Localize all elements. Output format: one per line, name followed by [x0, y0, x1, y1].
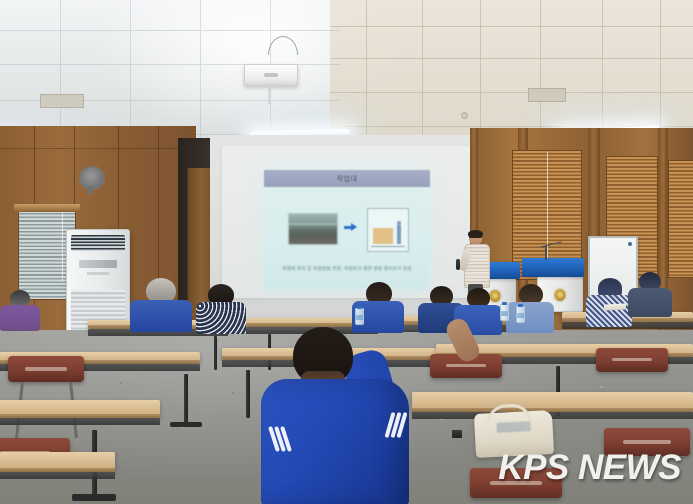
blind-cord-left[interactable]	[62, 212, 63, 282]
attendee-back-right	[628, 272, 672, 316]
small-device-on-table	[452, 430, 462, 438]
window-frame-left	[14, 204, 80, 212]
presenter-hair	[468, 230, 483, 238]
table-front-right	[412, 392, 693, 412]
slide-right-diagram	[367, 208, 409, 252]
attendee-blue-grayhair	[130, 278, 192, 330]
attendee-foreground	[255, 327, 420, 504]
table-foot-front-left	[72, 494, 116, 501]
handheld-microphone	[456, 259, 460, 270]
wall-fan	[79, 166, 105, 190]
photograph-seminar-room: 작업대 작업대 위치 및 작업방법 변경, 작업자가 편한 방법 찾아보기 등등	[0, 0, 693, 504]
slide-title-bar: 작업대	[264, 170, 430, 187]
projector-cable-drop	[268, 88, 270, 104]
ceiling-vent-left	[40, 94, 84, 108]
table-leg-mid-left	[184, 374, 188, 424]
podium-emblem-right	[555, 289, 566, 301]
chair-mid-left[interactable]	[8, 356, 84, 382]
projector	[244, 64, 298, 86]
table-leg-far-left	[214, 336, 217, 370]
wall-fan-mount	[88, 186, 92, 194]
attendee-gray-right	[586, 278, 632, 326]
slide-arrow-icon	[344, 223, 357, 231]
microphone-stand[interactable]	[545, 246, 547, 260]
slide-left-photo	[288, 213, 338, 245]
attendee-polka-dot	[196, 284, 246, 332]
air-conditioner-display	[79, 260, 117, 268]
window-blinds-right-3[interactable]	[668, 160, 693, 278]
table-foot-mid-left	[170, 422, 202, 427]
watermark-kps-news: KPS NEWS	[498, 448, 681, 488]
ceiling-sprinkler	[461, 112, 468, 119]
presentation-slide: 작업대 작업대 위치 및 작업방법 변경, 작업자가 편한 방법 찾아보기 등등	[264, 170, 430, 290]
attendee-purple-left	[0, 290, 40, 330]
projector-mount	[264, 84, 278, 88]
table-cover-right	[522, 258, 584, 277]
foreground-tshirt	[261, 379, 409, 504]
attendee-light-blue	[506, 284, 554, 330]
chair-mid-right[interactable]	[596, 348, 668, 372]
slide-title: 작업대	[337, 174, 358, 184]
table-cover-tag-right	[527, 262, 528, 267]
blind-cord-right-1[interactable]	[547, 152, 548, 272]
paper-stack-right	[604, 303, 626, 310]
table-bottom-left	[0, 452, 115, 472]
water-bottle-3	[355, 308, 364, 325]
projector-lens	[264, 73, 278, 77]
slide-caption: 작업대 위치 및 작업방법 변경, 작업자가 편한 방법 찾아보기 등등	[280, 266, 414, 272]
water-bottle-2	[516, 306, 525, 323]
air-conditioner-subdisplay	[87, 272, 109, 275]
table-leg-mid-center	[246, 370, 250, 418]
ceiling-vent-right	[528, 88, 566, 102]
air-conditioner-grill	[71, 235, 125, 251]
tote-bag-print	[496, 421, 530, 433]
whiteboard-magnet	[628, 242, 632, 246]
table-front-left	[0, 400, 160, 418]
water-bottle-1	[500, 304, 509, 321]
